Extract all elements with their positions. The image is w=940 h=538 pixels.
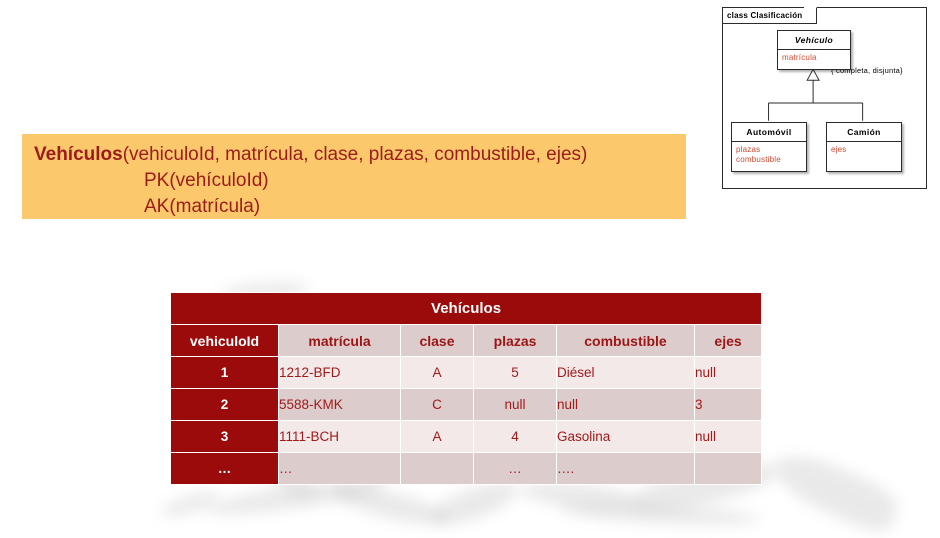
background-watermark	[560, 500, 761, 528]
cell-ejes: null	[695, 421, 761, 452]
cell-vehiculoid: 3	[171, 421, 278, 452]
uml-class-automovil-attributes: plazas combustible	[732, 142, 806, 169]
table-header-combustible[interactable]: combustible	[557, 325, 694, 356]
table-header-ejes[interactable]: ejes	[695, 325, 761, 356]
cell-clase: A	[401, 421, 473, 452]
cell-combustible: ….	[557, 453, 694, 484]
background-watermark	[159, 487, 221, 521]
uml-class-vehiculo-name: Vehículo	[778, 31, 850, 50]
cell-vehiculoid: …	[171, 453, 278, 484]
uml-class-automovil-name: Automóvil	[732, 123, 806, 142]
uml-class-vehiculo[interactable]: Vehículo matrícula	[777, 30, 851, 70]
table-header-row: vehiculoId matrícula clase plazas combus…	[171, 325, 761, 356]
cell-plazas: 5	[474, 357, 556, 388]
schema-alternate-key-line: AK(matrícula)	[34, 194, 686, 220]
vehiculos-data-table: Vehículos vehiculoId matrícula clase pla…	[170, 292, 762, 485]
table-header-plazas[interactable]: plazas	[474, 325, 556, 356]
cell-matricula: 1111-BCH	[279, 421, 400, 452]
table-header-clase[interactable]: clase	[401, 325, 473, 356]
table-row[interactable]: 3 1111-BCH A 4 Gasolina null	[171, 421, 761, 452]
table-title-row: Vehículos	[171, 293, 761, 324]
background-watermark	[329, 478, 452, 532]
cell-vehiculoid: 1	[171, 357, 278, 388]
cell-ejes: 3	[695, 389, 761, 420]
table-title: Vehículos	[171, 293, 761, 324]
cell-clase: A	[401, 357, 473, 388]
cell-matricula: …	[279, 453, 400, 484]
uml-class-camion[interactable]: Camión ejes	[826, 122, 902, 172]
cell-matricula: 1212-BFD	[279, 357, 400, 388]
schema-relation-name: Vehículos	[34, 144, 123, 165]
cell-combustible: Diésel	[557, 357, 694, 388]
cell-plazas: 4	[474, 421, 556, 452]
cell-plazas: null	[474, 389, 556, 420]
relational-schema-box: Vehículos(vehiculoId, matrícula, clase, …	[22, 134, 686, 219]
schema-relation-line: Vehículos(vehiculoId, matrícula, clase, …	[34, 142, 686, 168]
cell-ejes	[695, 453, 761, 484]
table-row[interactable]: … … … ….	[171, 453, 761, 484]
cell-ejes: null	[695, 357, 761, 388]
table-row[interactable]: 1 1212-BFD A 5 Diésel null	[171, 357, 761, 388]
uml-class-vehiculo-attributes: matrícula	[778, 50, 850, 67]
cell-clase	[401, 453, 473, 484]
table-header-vehiculoid[interactable]: vehiculoId	[171, 325, 278, 356]
cell-combustible: Gasolina	[557, 421, 694, 452]
cell-matricula: 5588-KMK	[279, 389, 400, 420]
uml-class-camion-attributes: ejes	[827, 142, 901, 159]
cell-clase: C	[401, 389, 473, 420]
uml-class-camion-name: Camión	[827, 123, 901, 142]
table-header-matricula[interactable]: matrícula	[279, 325, 400, 356]
background-watermark	[766, 444, 903, 538]
cell-plazas: …	[474, 453, 556, 484]
cell-vehiculoid: 2	[171, 389, 278, 420]
schema-primary-key-line: PK(vehículoId)	[34, 168, 686, 194]
table-row[interactable]: 2 5588-KMK C null null 3	[171, 389, 761, 420]
cell-combustible: null	[557, 389, 694, 420]
schema-attribute-list: (vehiculoId, matrícula, clase, plazas, c…	[123, 144, 588, 165]
uml-class-diagram-frame: class Clasificación { completa, disjunta…	[722, 7, 927, 189]
uml-class-automovil[interactable]: Automóvil plazas combustible	[731, 122, 807, 172]
